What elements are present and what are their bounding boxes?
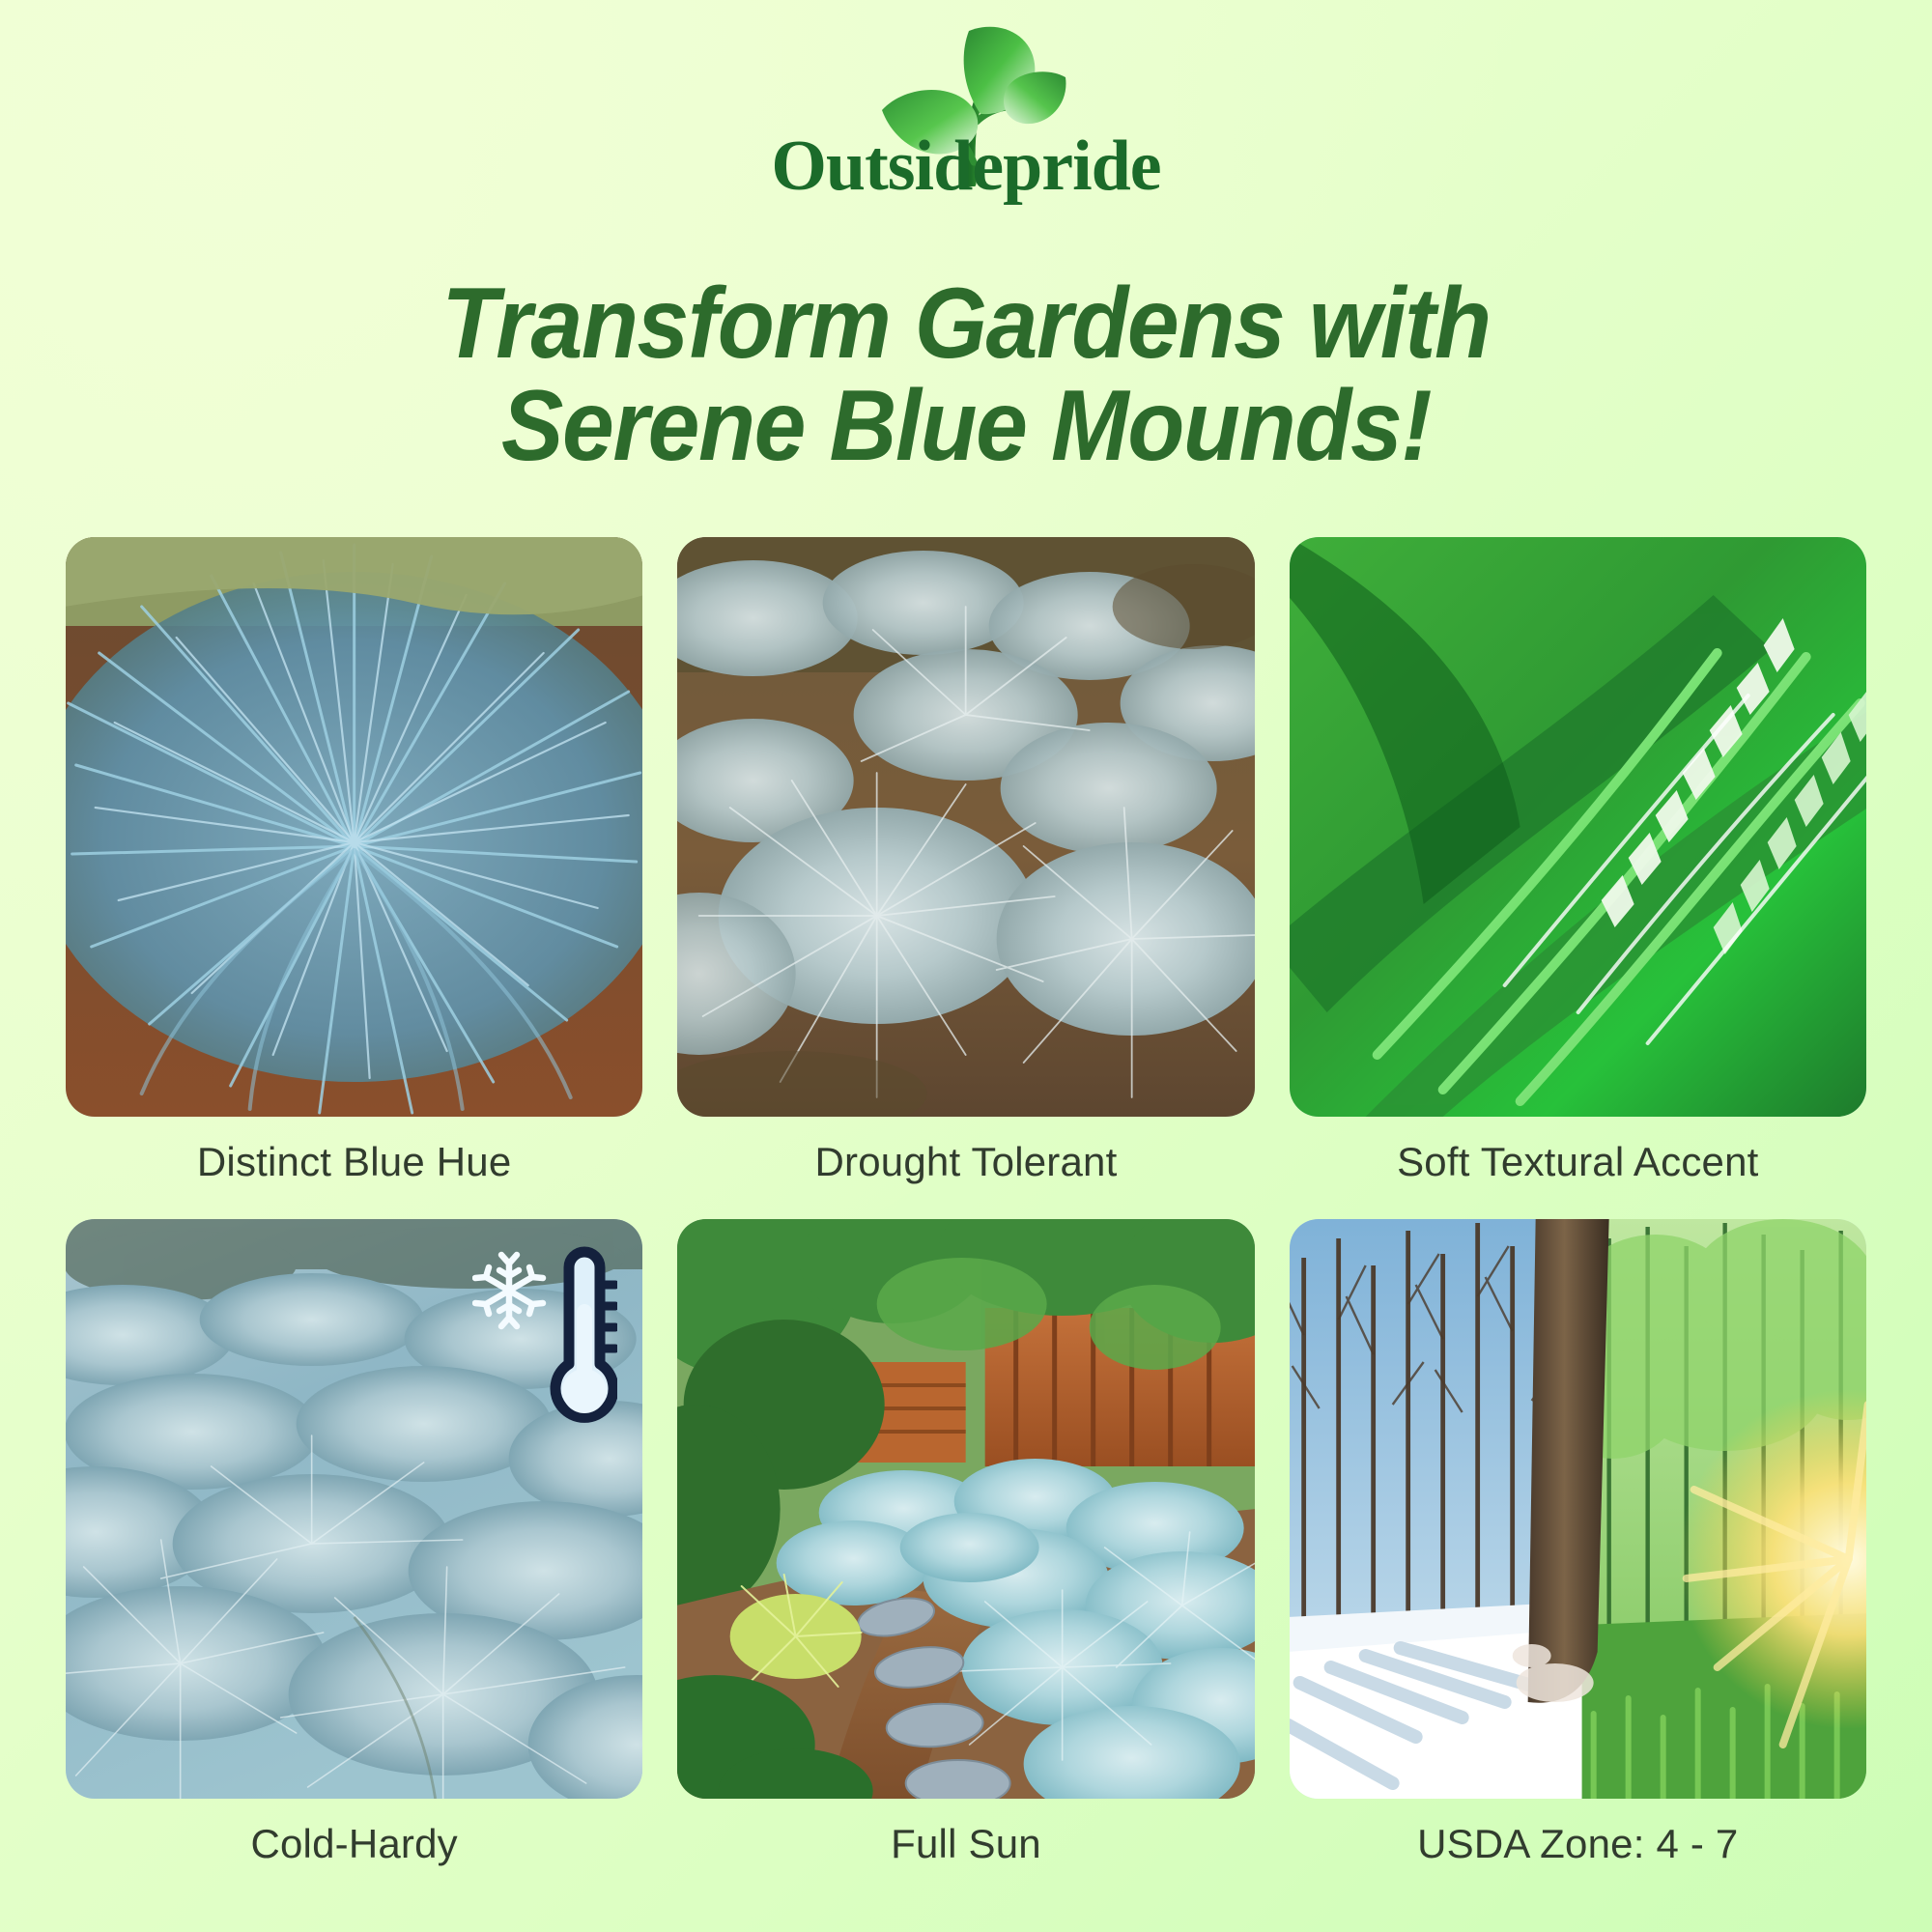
feature-card-full-sun[interactable]: Full Sun [677, 1219, 1254, 1864]
feature-caption: USDA Zone: 4 - 7 [1417, 1824, 1738, 1864]
feature-card-distinct-blue-hue[interactable]: Distinct Blue Hue [66, 537, 642, 1182]
feature-image-cold-hardy [66, 1219, 642, 1799]
snowflake-thermometer-icon [472, 1240, 617, 1443]
page-title: Transform Gardens with Serene Blue Mound… [68, 272, 1864, 477]
feature-caption: Drought Tolerant [815, 1142, 1118, 1182]
feature-card-usda-zone[interactable]: USDA Zone: 4 - 7 [1290, 1219, 1866, 1864]
feature-caption: Soft Textural Accent [1397, 1142, 1758, 1182]
feature-image-distinct-blue-hue [66, 537, 642, 1117]
headline-line-1: Transform Gardens with [68, 272, 1864, 375]
feature-image-drought-tolerant [677, 537, 1254, 1117]
headline-line-2: Serene Blue Mounds! [68, 375, 1864, 477]
feature-card-cold-hardy[interactable]: Cold-Hardy [66, 1219, 642, 1864]
feature-image-usda-zone [1290, 1219, 1866, 1799]
feature-caption: Cold-Hardy [250, 1824, 457, 1864]
feature-card-drought-tolerant[interactable]: Drought Tolerant [677, 537, 1254, 1182]
feature-card-soft-textural-accent[interactable]: Soft Textural Accent [1290, 537, 1866, 1182]
feature-grid: Distinct Blue Hue [66, 537, 1866, 1864]
brand-name: Outsidepride [771, 130, 1160, 202]
feature-caption: Full Sun [891, 1824, 1041, 1864]
feature-image-full-sun [677, 1219, 1254, 1799]
brand-logo: Outsidepride [0, 17, 1932, 202]
feature-caption: Distinct Blue Hue [197, 1142, 512, 1182]
feature-image-soft-textural-accent [1290, 537, 1866, 1117]
